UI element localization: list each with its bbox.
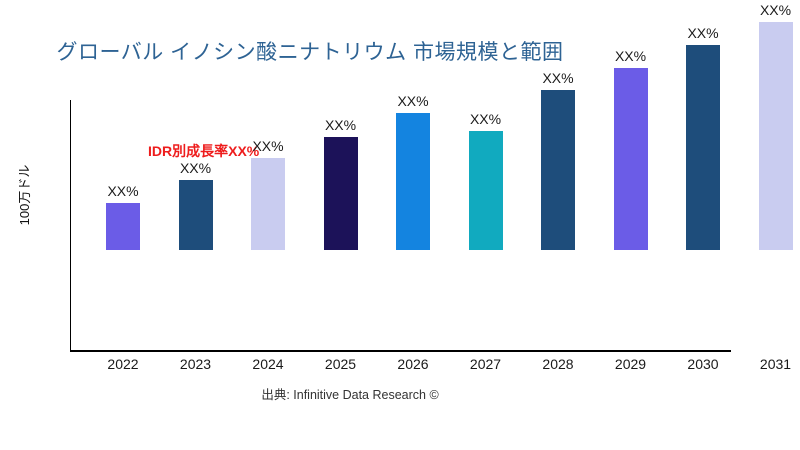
bar-value-label: XX% <box>668 25 738 41</box>
plot-area: XX%XX%XX%XX%XX%XX%XX%XX%XX%XX% <box>0 0 800 350</box>
bar-value-label: XX% <box>161 160 231 176</box>
x-axis-tick-2025: 2025 <box>306 356 376 372</box>
bar-value-label: XX% <box>523 70 593 86</box>
x-axis-line <box>70 350 731 352</box>
bar-value-label: XX% <box>378 93 448 109</box>
source-caption: 出典: Infinitive Data Research © <box>0 384 700 403</box>
bar-value-label: XX% <box>451 111 521 127</box>
bar[interactable] <box>469 131 503 250</box>
chart-container: グローバル イノシン酸ニナトリウム 市場規模と範囲 100万ドル IDR別成長率… <box>0 0 800 450</box>
bar[interactable] <box>179 180 213 250</box>
x-axis-tick-2030: 2030 <box>668 356 738 372</box>
x-axis-tick-2022: 2022 <box>88 356 158 372</box>
x-axis-tick-2024: 2024 <box>233 356 303 372</box>
bar[interactable] <box>686 45 720 250</box>
x-axis-tick-2027: 2027 <box>451 356 521 372</box>
x-axis-tick-2029: 2029 <box>596 356 666 372</box>
bar-value-label: XX% <box>88 183 158 199</box>
bar-value-label: XX% <box>741 2 800 18</box>
bar-value-label: XX% <box>306 117 376 133</box>
bar[interactable] <box>759 22 793 250</box>
bar-value-label: XX% <box>233 138 303 154</box>
bar[interactable] <box>106 203 140 250</box>
bar[interactable] <box>396 113 430 250</box>
x-axis-tick-2026: 2026 <box>378 356 448 372</box>
bar[interactable] <box>251 158 285 250</box>
bar[interactable] <box>324 137 358 250</box>
bar[interactable] <box>614 68 648 250</box>
x-axis-tick-2031: 2031 <box>741 356 800 372</box>
x-axis-tick-2023: 2023 <box>161 356 231 372</box>
bar-value-label: XX% <box>596 48 666 64</box>
bar[interactable] <box>541 90 575 250</box>
x-axis-tick-2028: 2028 <box>523 356 593 372</box>
